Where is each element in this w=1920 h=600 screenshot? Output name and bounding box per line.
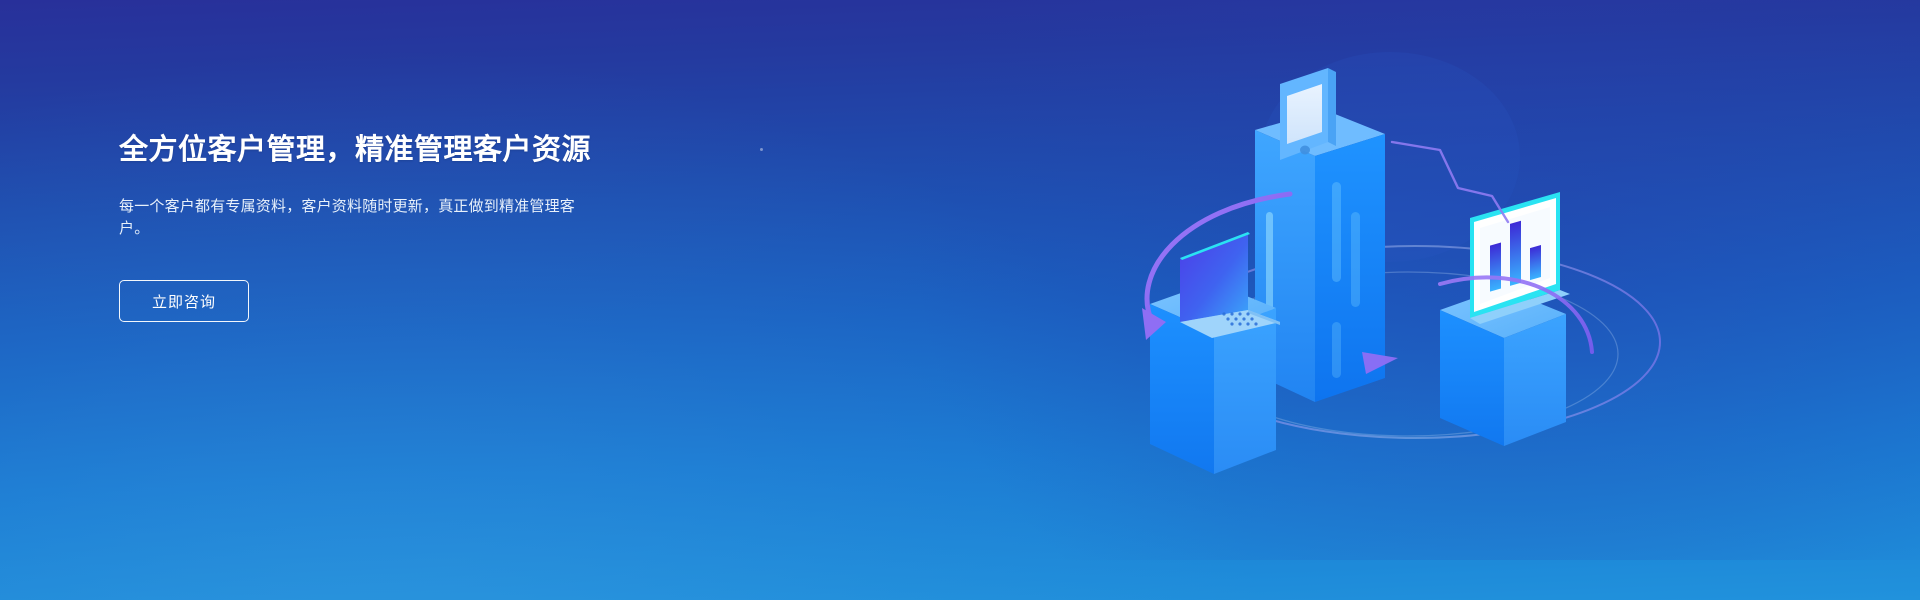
hero-copy-block: 全方位客户管理，精准管理客户资源 每一个客户都有专属资料，客户资料随时更新，真正… [119,130,759,322]
chart-bar-1 [1490,242,1501,291]
hero-banner: 全方位客户管理，精准管理客户资源 每一个客户都有专属资料，客户资料随时更新，真正… [0,0,1920,600]
consult-now-button[interactable]: 立即咨询 [119,280,249,322]
column-light-bar-3 [1351,212,1360,307]
tablet-home-button [1300,146,1310,155]
column-light-bar-4 [1332,322,1341,378]
page-title: 全方位客户管理，精准管理客户资源 [119,130,759,170]
decorative-dot [760,148,763,151]
hero-illustration [1140,22,1700,542]
chart-bar-2 [1510,221,1521,286]
chart-bar-3 [1530,245,1541,280]
hero-subtitle: 每一个客户都有专属资料，客户资料随时更新，真正做到精准管理客户。 [119,196,597,240]
column-light-bar-2 [1332,182,1341,282]
